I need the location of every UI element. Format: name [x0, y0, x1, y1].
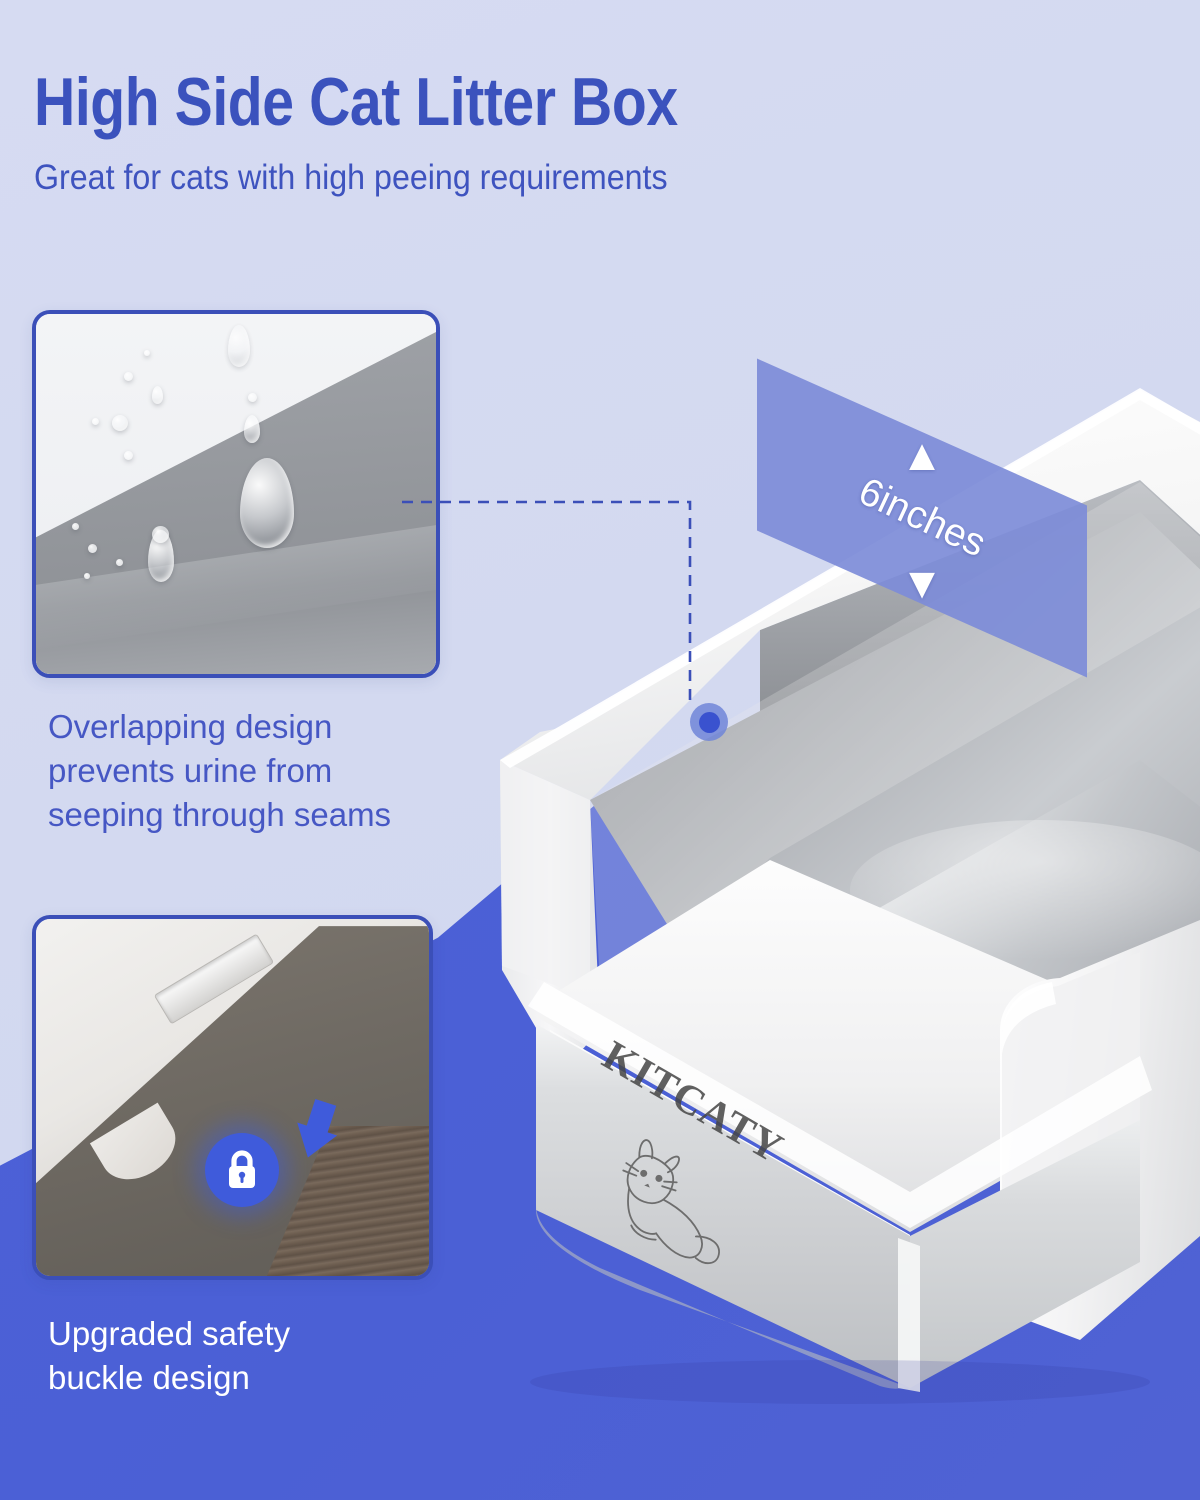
arrow-up-icon: ▲	[900, 434, 944, 478]
dimension-label-text: 6inches	[852, 470, 992, 567]
caption-line: Overlapping design	[48, 705, 478, 749]
water-droplet-icon	[124, 451, 133, 460]
water-droplet-icon	[72, 523, 79, 530]
water-droplet-icon	[144, 350, 150, 356]
water-droplet-icon	[124, 372, 133, 381]
page-title: High Side Cat Litter Box	[34, 66, 874, 138]
header: High Side Cat Litter Box Great for cats …	[34, 66, 1034, 198]
caption-line: buckle design	[48, 1356, 478, 1400]
caption-line: prevents urine from	[48, 749, 478, 793]
photo-safety-buckle	[32, 915, 433, 1280]
water-droplet-icon	[244, 415, 260, 443]
seam-hotspot[interactable]	[690, 703, 728, 741]
caption-overlapping-design: Overlapping design prevents urine from s…	[48, 705, 478, 837]
water-droplet-icon	[116, 559, 123, 566]
arrow-down-icon	[288, 1098, 340, 1160]
page-subtitle: Great for cats with high peeing requirem…	[34, 158, 954, 198]
infographic-canvas: High Side Cat Litter Box Great for cats …	[0, 0, 1200, 1500]
arrow-down-icon: ▼	[900, 562, 944, 606]
water-droplet-icon	[152, 386, 163, 404]
photo-overlapping-design	[32, 310, 440, 678]
caption-line: seeping through seams	[48, 793, 478, 837]
water-droplet-icon	[112, 415, 128, 431]
caption-line: Upgraded safety	[48, 1312, 478, 1356]
caption-safety-buckle: Upgraded safety buckle design	[48, 1312, 478, 1400]
lock-icon	[205, 1133, 279, 1207]
